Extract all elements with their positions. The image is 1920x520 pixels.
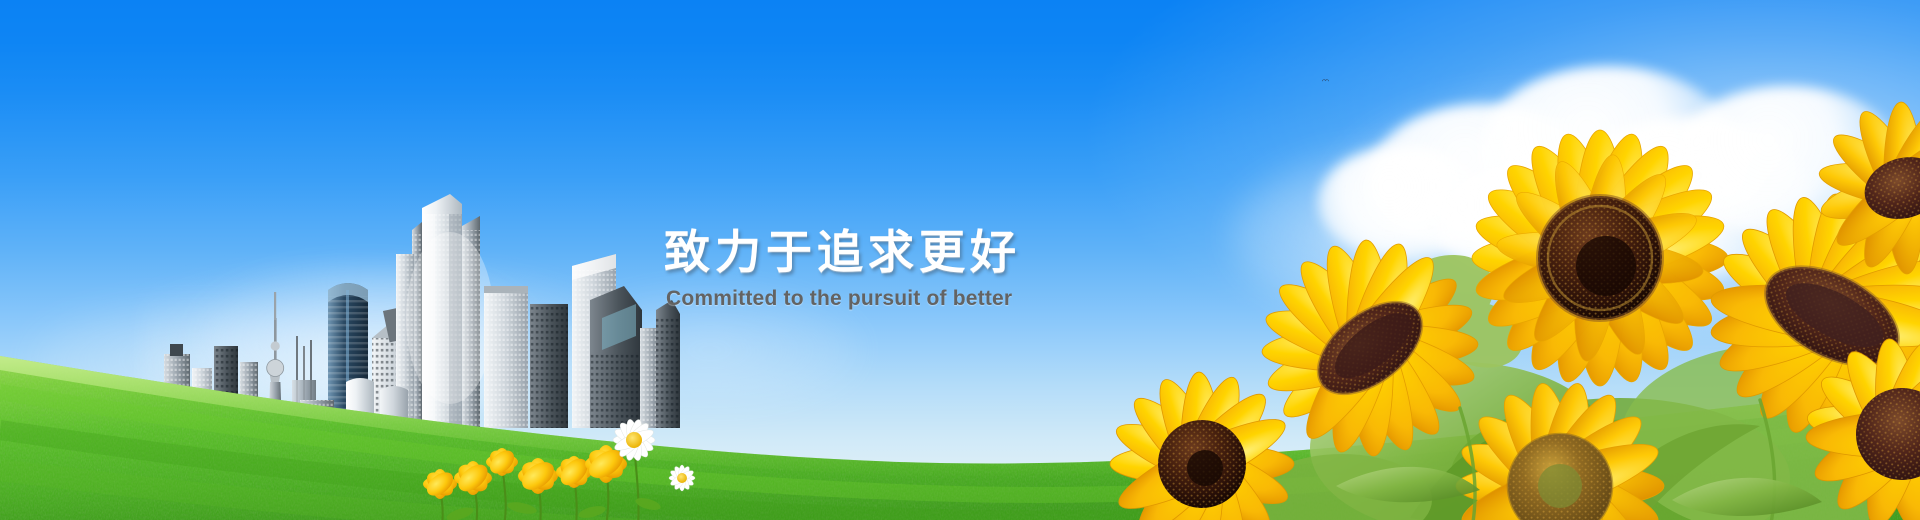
sunflower-cluster xyxy=(1160,48,1920,520)
meadow-flowers xyxy=(400,386,730,520)
daisy xyxy=(669,465,695,491)
dandelion xyxy=(423,444,628,500)
banner-text-block: 致力于追求更好 Committed to the pursuit of bett… xyxy=(664,228,1224,311)
hero-banner: 致力于追求更好 Committed to the pursuit of bett… xyxy=(0,0,1920,520)
banner-headline: 致力于追求更好 xyxy=(664,228,1224,277)
banner-subheadline: Committed to the pursuit of better xyxy=(666,287,1224,311)
